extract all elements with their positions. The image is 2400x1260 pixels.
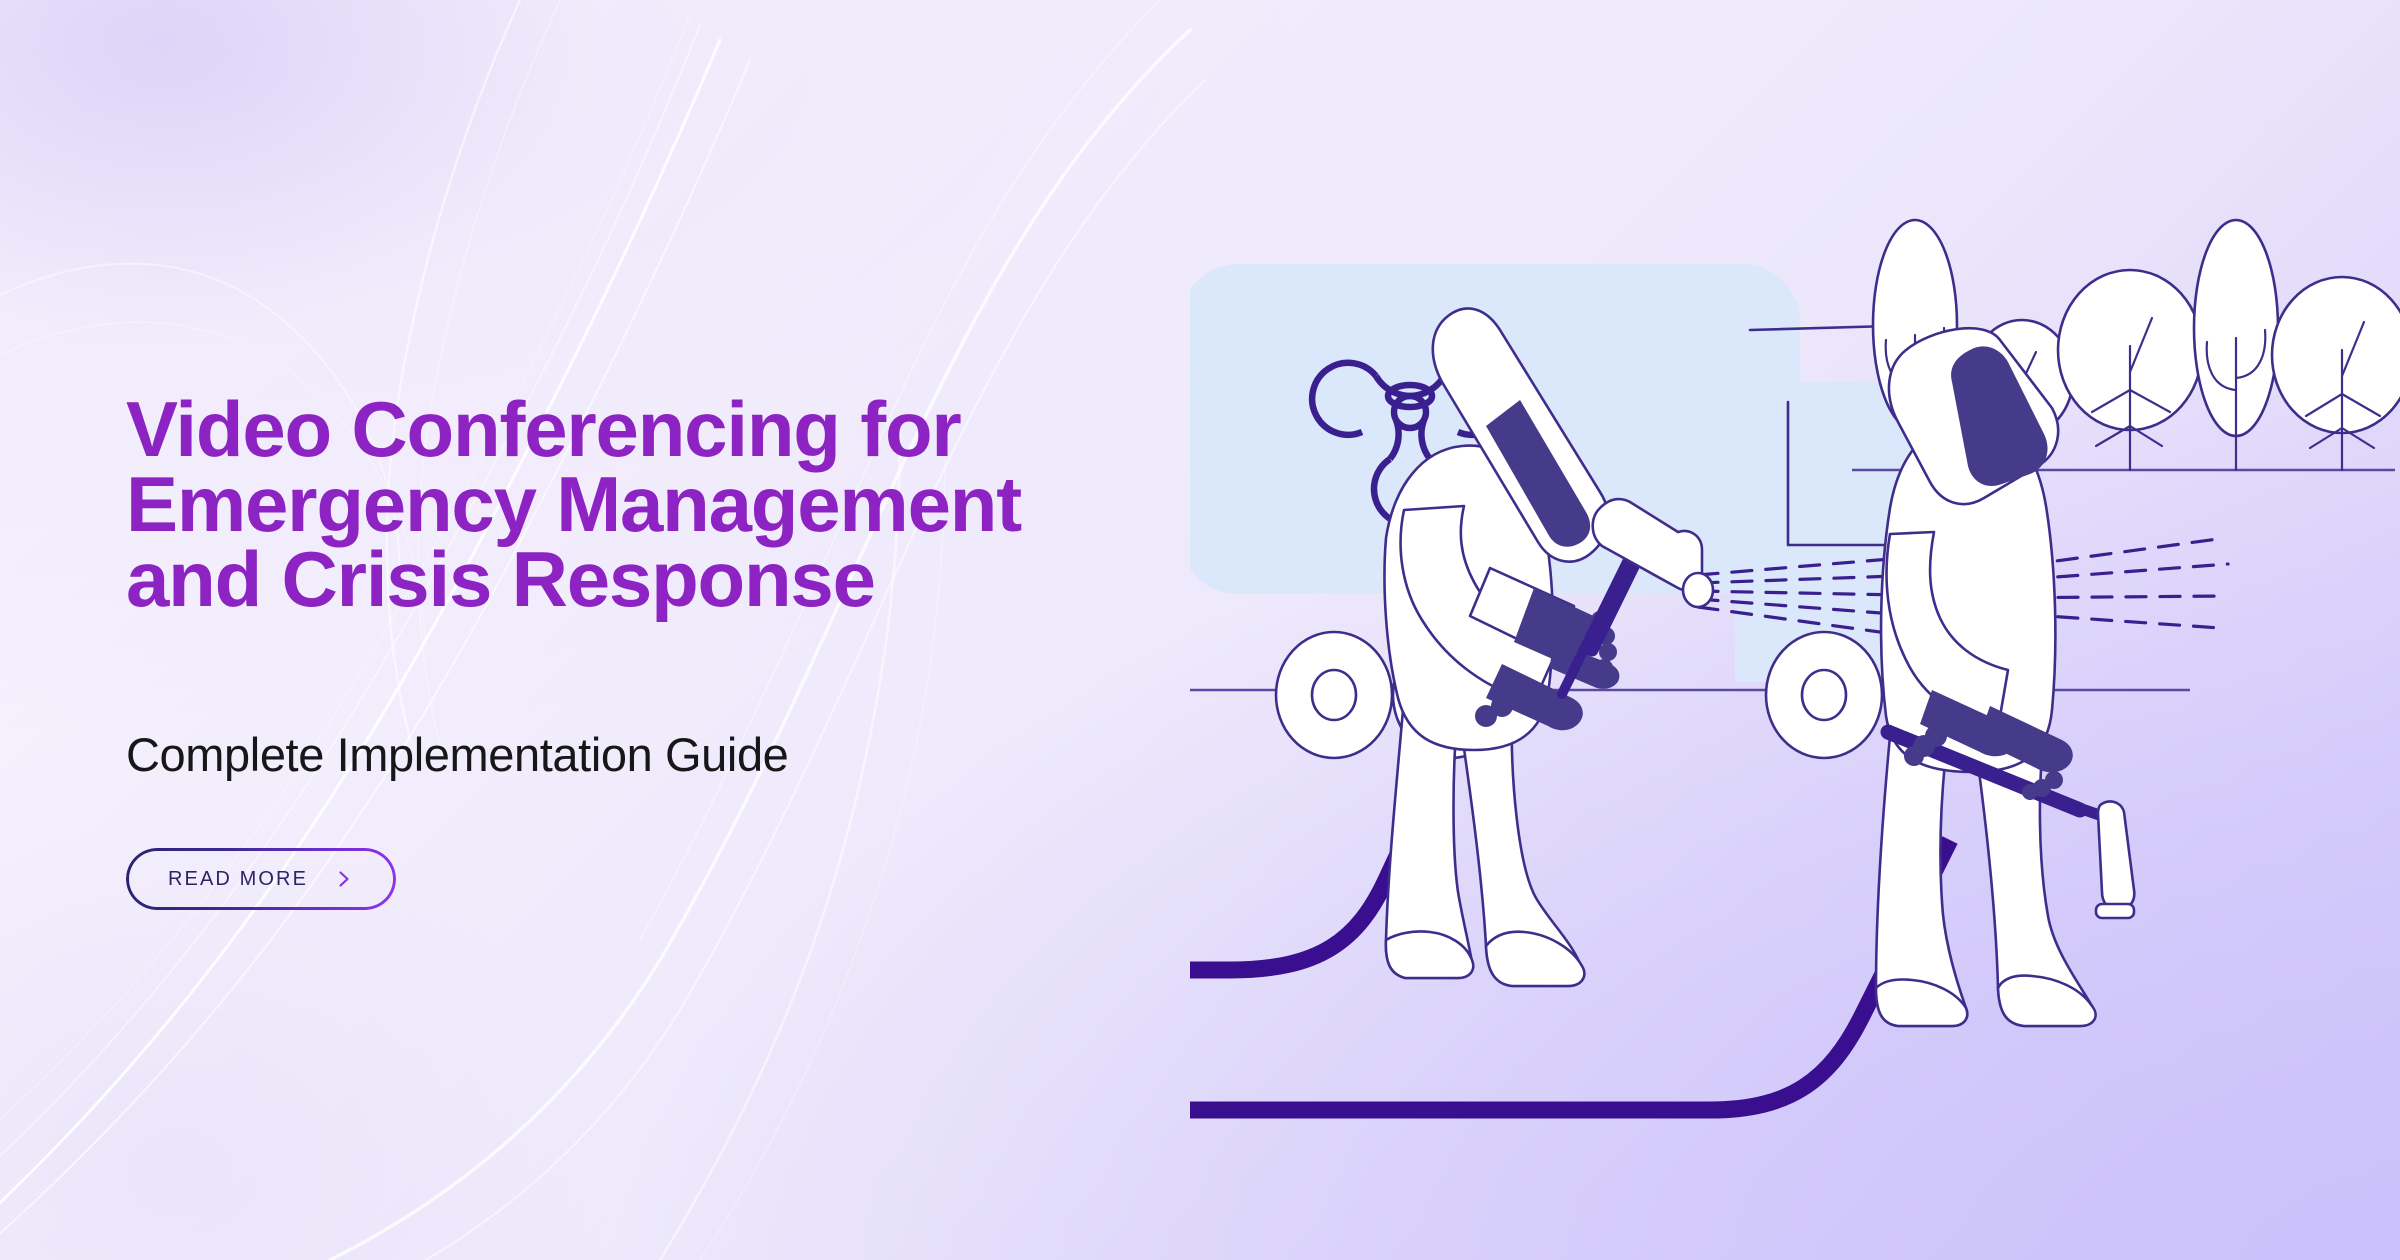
read-more-button[interactable]: READ MORE xyxy=(126,848,396,910)
hazmat-illustration: .ol { stroke:#3f2d8c; stroke-width:2.6; … xyxy=(1190,150,2400,1150)
tree xyxy=(2058,270,2202,470)
hero-subtitle: Complete Implementation Guide xyxy=(126,617,1166,781)
wheel xyxy=(1766,632,1882,758)
tree xyxy=(2194,220,2278,470)
cta-container: READ MORE xyxy=(126,780,1166,910)
hero-copy: Video Conferencing for Emergency Managem… xyxy=(126,392,1166,910)
wheel xyxy=(1276,632,1392,758)
chevron-right-icon xyxy=(334,869,354,889)
read-more-label: READ MORE xyxy=(168,868,308,891)
tree xyxy=(2272,277,2400,470)
hose-group xyxy=(1190,768,1950,1110)
hero-banner: Video Conferencing for Emergency Managem… xyxy=(0,0,2400,1260)
page-title: Video Conferencing for Emergency Managem… xyxy=(126,392,1166,617)
worker-right xyxy=(1876,328,2134,1026)
